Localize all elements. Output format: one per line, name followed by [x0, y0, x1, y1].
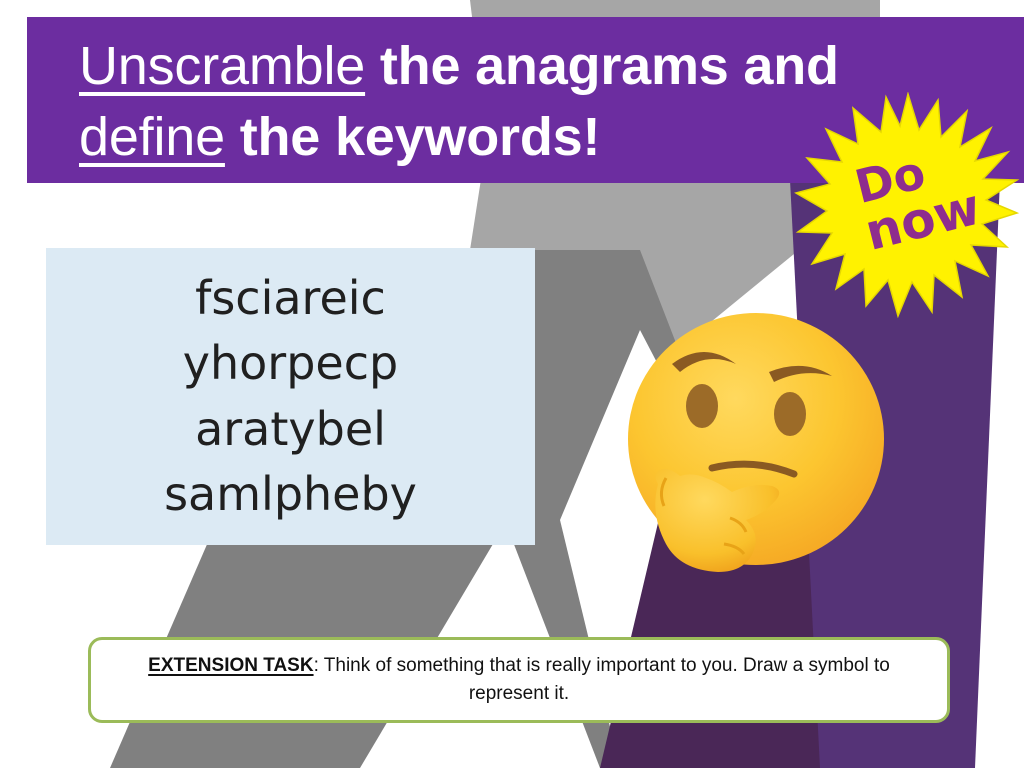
- do-now-starburst-badge: Do now: [788, 92, 1024, 322]
- extension-task-text: EXTENSION TASK: Think of something that …: [117, 652, 921, 709]
- thinking-face-icon: [614, 306, 894, 591]
- extension-task-separator: :: [314, 655, 324, 676]
- anagram-panel: fsciareic yhorpecp aratybel samlpheby: [46, 248, 535, 545]
- title-keyword-define: define: [79, 107, 225, 167]
- extension-task-label: EXTENSION TASK: [148, 655, 313, 676]
- anagram-word-3: aratybel: [195, 398, 386, 461]
- extension-task-body: Think of something that is really import…: [324, 655, 890, 705]
- anagram-word-2: yhorpecp: [183, 332, 398, 395]
- anagram-word-1: fsciareic: [195, 267, 386, 330]
- title-keyword-unscramble: Unscramble: [79, 36, 365, 96]
- title-rest-2: the keywords!: [225, 107, 600, 167]
- extension-task-box: EXTENSION TASK: Think of something that …: [88, 637, 950, 723]
- slide-canvas: Unscramble the anagrams and define the k…: [0, 0, 1024, 768]
- title-rest-1: the anagrams and: [365, 36, 839, 96]
- anagram-word-4: samlpheby: [164, 463, 417, 526]
